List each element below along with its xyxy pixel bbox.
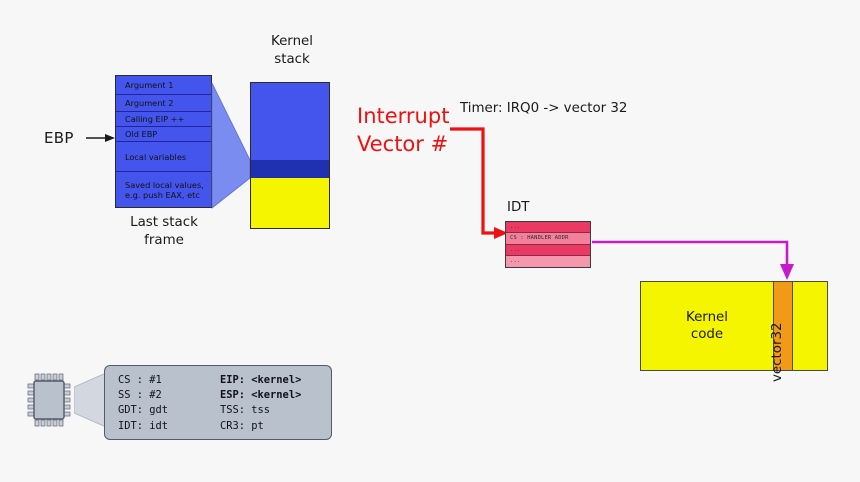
kernel-stack-caption: Kernel stack (248, 33, 336, 69)
stack-frame-row-local-variables: Local variables (116, 142, 211, 172)
idt-row-handler-entry: CS : HANDLER ADDR (506, 233, 590, 244)
kernel-code-label-line2: code (686, 326, 728, 343)
idt-row-ellipsis-bottom: ... (506, 256, 590, 267)
stack-frame-row-argument-2: Argument 2 (116, 95, 211, 112)
cpu-registers-left-column: CS : #1 SS : #2 GDT: gdt IDT: idt (118, 373, 220, 439)
interrupt-vector-title-line1: Interrupt (357, 103, 449, 131)
kernel-stack-box (250, 82, 330, 229)
register-ss: SS : #2 (118, 388, 220, 403)
idt-label: IDT (507, 200, 529, 215)
kernel-stack-caption-line1: Kernel (248, 33, 336, 51)
stack-frame-row-calling-eip: Calling EIP ++ (116, 112, 211, 127)
cpu-to-registers-connector (74, 371, 108, 429)
register-gdt: GDT: gdt (118, 403, 220, 418)
last-stack-frame-box: Argument 1 Argument 2 Calling EIP ++ Old… (115, 75, 212, 208)
diagram-canvas: Argument 1 Argument 2 Calling EIP ++ Old… (0, 0, 860, 482)
register-esp: ESP: <kernel> (220, 388, 331, 403)
idt-to-kernel-code-arrow-icon (590, 234, 805, 284)
interrupt-vector-arrow-icon (444, 120, 514, 245)
right-arrow-icon (86, 131, 116, 145)
stack-frame-row-old-ebp: Old EBP (116, 127, 211, 142)
timer-irq-note: Timer: IRQ0 -> vector 32 (460, 101, 627, 116)
cpu-registers-right-column: EIP: <kernel> ESP: <kernel> TSS: tss CR3… (220, 373, 331, 439)
idt-row-ellipsis-mid: ... (506, 245, 590, 256)
last-stack-frame-caption: Last stack frame (112, 214, 216, 250)
register-cs: CS : #1 (118, 373, 220, 388)
last-stack-frame-caption-line1: Last stack (112, 214, 216, 232)
kernel-stack-caption-line2: stack (248, 51, 336, 69)
register-tss: TSS: tss (220, 403, 331, 418)
cpu-register-box: CS : #1 SS : #2 GDT: gdt IDT: idt EIP: <… (104, 365, 332, 440)
stack-frame-row-saved-local-values: Saved local values, e.g. push EAX, etc (116, 172, 211, 207)
kernel-code-box: Kernel code (640, 281, 828, 371)
last-stack-frame-caption-line2: frame (112, 232, 216, 250)
ebp-pointer-label: EBP (44, 129, 74, 147)
interrupt-vector-title-line2: Vector # (357, 131, 449, 159)
kernel-stack-free-region (251, 83, 329, 160)
kernel-code-tail-region (793, 282, 827, 370)
vector32-label: vector32 (770, 322, 785, 382)
register-cr3: CR3: pt (220, 419, 331, 434)
kernel-stack-frame-region (251, 160, 329, 178)
kernel-code-label-line1: Kernel (686, 309, 728, 326)
kernel-code-label: Kernel code (641, 282, 773, 370)
interrupt-vector-title: Interrupt Vector # (357, 103, 449, 158)
idt-table: ... CS : HANDLER ADDR ... ... (505, 221, 591, 268)
cpu-chip-icon (26, 371, 74, 429)
kernel-stack-used-region (251, 178, 329, 228)
stack-frame-row-argument-1: Argument 1 (116, 76, 211, 95)
register-eip: EIP: <kernel> (220, 373, 331, 388)
idt-row-ellipsis-top: ... (506, 222, 590, 233)
register-idt: IDT: idt (118, 419, 220, 434)
